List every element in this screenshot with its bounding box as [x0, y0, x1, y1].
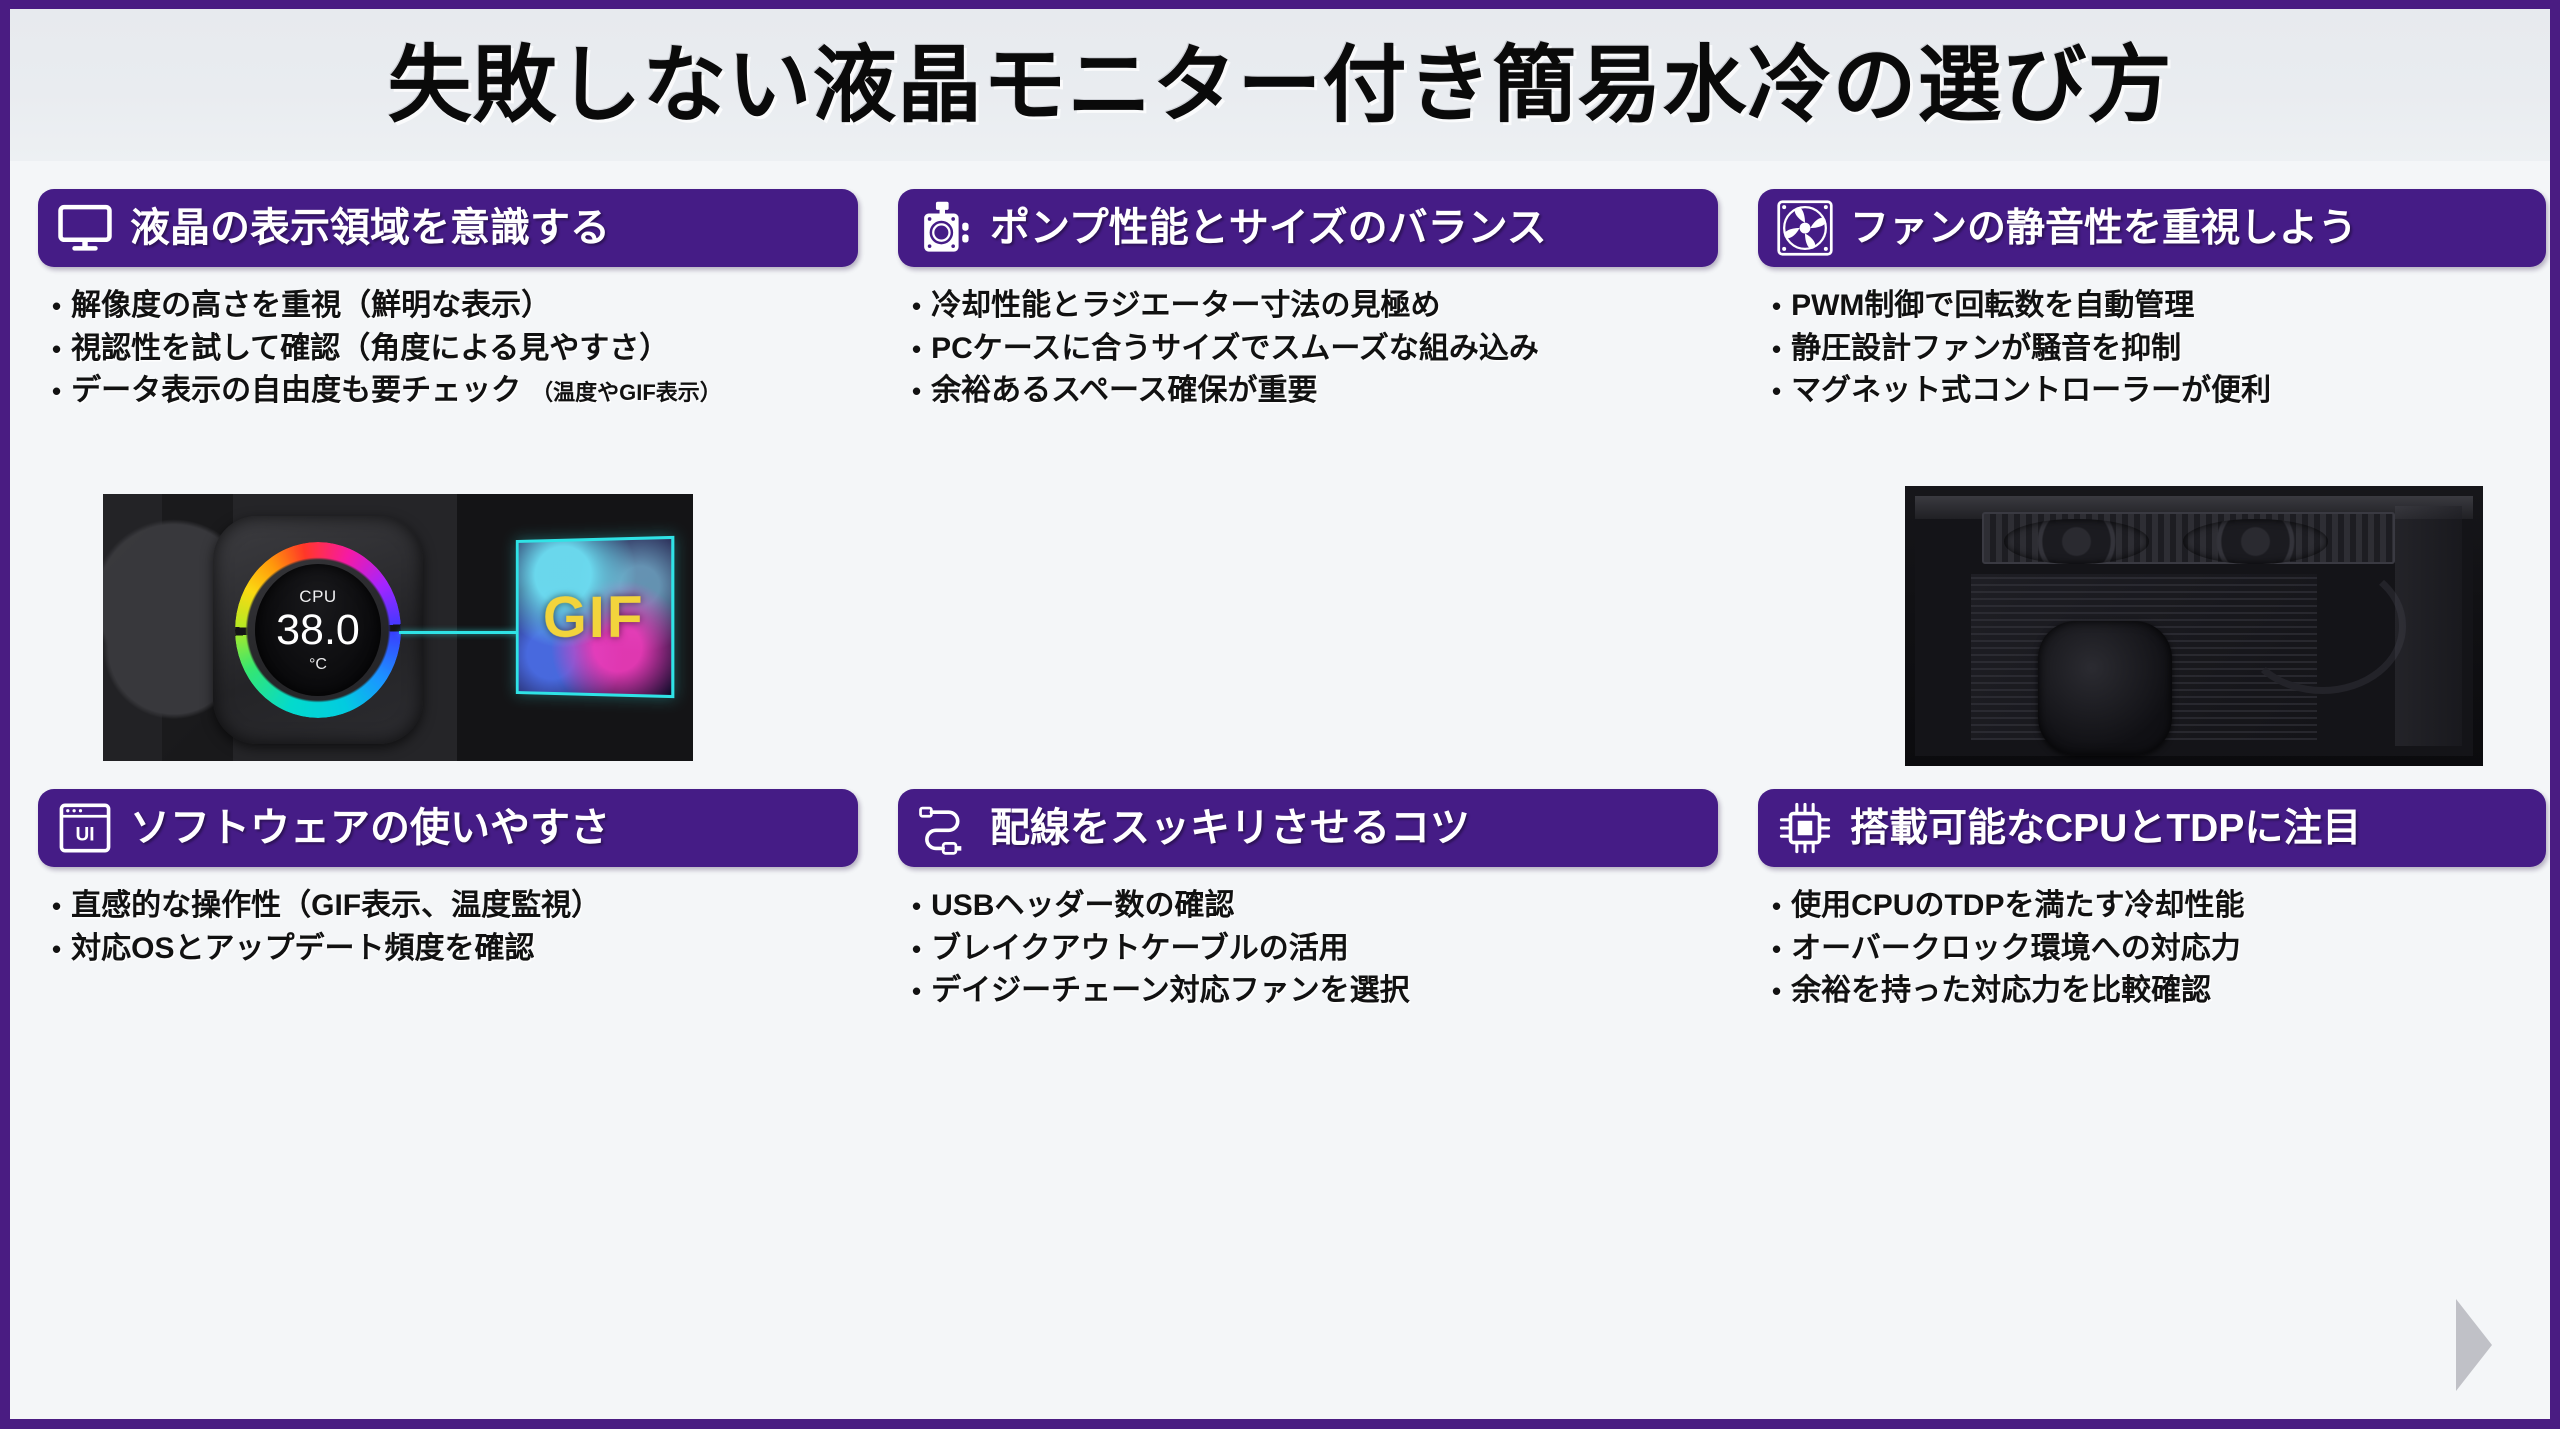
bullet-text: ブレイクアウトケーブルの活用	[931, 928, 1349, 971]
bullet-text: オーバークロック環境への対応力	[1791, 928, 2241, 971]
section-cable-management: 配線をスッキリさせるコツ • USBヘッダー数の確認 • ブレイクアウトケーブル…	[898, 789, 1718, 1013]
bullet-subtext: （温度やGIF表示）	[531, 377, 722, 408]
list-item: • 解像度の高さを重視（鮮明な表示）	[52, 285, 858, 328]
bullet-dot: •	[52, 378, 61, 404]
next-arrow-icon[interactable]	[2456, 1299, 2492, 1391]
usb-cable-icon	[916, 799, 974, 857]
list-item: • 使用CPUのTDPを満たす冷却性能	[1772, 885, 2546, 928]
list-item: • 余裕を持った対応力を比較確認	[1772, 970, 2546, 1013]
bullet-dot: •	[912, 293, 921, 319]
bullet-dot: •	[1772, 293, 1781, 319]
lcd-temp-unit: °C	[309, 656, 327, 674]
bullet-text: PCケースに合うサイズでスムーズな組み込み	[931, 328, 1539, 371]
bullet-text: 静圧設計ファンが騒音を抑制	[1791, 328, 2181, 371]
bullet-dot: •	[1772, 378, 1781, 404]
bullet-list-cable-management: • USBヘッダー数の確認 • ブレイクアウトケーブルの活用 • デイジーチェー…	[898, 885, 1718, 1013]
gif-label: GIF	[543, 583, 645, 651]
list-item: • 冷却性能とラジエーター寸法の見極め	[912, 285, 1718, 328]
list-item: • 視認性を試して確認（角度による見やすさ）	[52, 328, 858, 371]
bullet-list-fan-quietness: • PWM制御で回転数を自動管理 • 静圧設計ファンが騒音を抑制 • マグネット…	[1758, 285, 2546, 413]
bullet-dot: •	[52, 936, 61, 962]
list-item: • 直感的な操作性（GIF表示、温度監視）	[52, 885, 858, 928]
bullet-text: 解像度の高さを重視（鮮明な表示）	[71, 285, 551, 328]
bullet-text: 対応OSとアップデート頻度を確認	[71, 928, 534, 971]
lcd-cpu-label: CPU	[299, 587, 336, 607]
bullet-list-cpu-tdp-support: • 使用CPUのTDPを満たす冷却性能 • オーバークロック環境への対応力 • …	[1758, 885, 2546, 1013]
bullet-list-lcd-display-area: • 解像度の高さを重視（鮮明な表示） • 視認性を試して確認（角度による見やすさ…	[38, 285, 858, 413]
list-item: • PCケースに合うサイズでスムーズな組み込み	[912, 328, 1718, 371]
bullet-text: マグネット式コントローラーが便利	[1791, 370, 2271, 413]
bullet-list-pump-performance-size: • 冷却性能とラジエーター寸法の見極め • PCケースに合うサイズでスムーズな組…	[898, 285, 1718, 413]
cpu-chip-icon	[1776, 799, 1834, 857]
pump-icon	[916, 199, 974, 257]
bullet-text: デイジーチェーン対応ファンを選択	[931, 970, 1410, 1013]
bullet-text: PWM制御で回転数を自動管理	[1791, 285, 2194, 328]
section-heading: ポンプ性能とサイズのバランス	[990, 208, 1547, 248]
bullet-dot: •	[1772, 978, 1781, 1004]
section-pump-performance-size: ポンプ性能とサイズのバランス • 冷却性能とラジエーター寸法の見極め • PCケ…	[898, 189, 1718, 413]
list-item: • データ表示の自由度も要チェック （温度やGIF表示）	[52, 370, 858, 413]
bullet-dot: •	[912, 336, 921, 362]
bullet-text: 視認性を試して確認（角度による見やすさ）	[71, 328, 669, 371]
list-item: • 余裕あるスペース確保が重要	[912, 370, 1718, 413]
pump-head: CPU 38.0 °C	[213, 516, 423, 744]
section-header-cable-management: 配線をスッキリさせるコツ	[898, 789, 1718, 867]
list-item: • USBヘッダー数の確認	[912, 885, 1718, 928]
pump-block	[2038, 621, 2172, 755]
pc-case-interior-radiator-photo	[1900, 481, 2488, 771]
radiator-fan	[2004, 519, 2149, 563]
bullet-text: 使用CPUのTDPを満たす冷却性能	[1791, 885, 2244, 928]
coolant-tubing	[2239, 558, 2406, 693]
svg-text:UI: UI	[75, 825, 94, 846]
list-item: • 対応OSとアップデート頻度を確認	[52, 928, 858, 971]
section-heading: ソフトウェアの使いやすさ	[130, 808, 610, 848]
bullet-dot: •	[1772, 336, 1781, 362]
list-item: • 静圧設計ファンが騒音を抑制	[1772, 328, 2546, 371]
list-item: • オーバークロック環境への対応力	[1772, 928, 2546, 971]
lcd-temp-value: 38.0	[276, 609, 360, 652]
section-lcd-display-area: 液晶の表示領域を意識する • 解像度の高さを重視（鮮明な表示） • 視認性を試し…	[38, 189, 858, 413]
bullet-dot: •	[912, 936, 921, 962]
infographic-page: 失敗しない液晶モニター付き簡易水冷の選び方 液晶の表示領域を意識する	[0, 0, 2560, 1429]
section-heading: 配線をスッキリさせるコツ	[990, 808, 1470, 848]
list-item: • マグネット式コントローラーが便利	[1772, 370, 2546, 413]
title-banner: 失敗しない液晶モニター付き簡易水冷の選び方	[10, 9, 2550, 161]
bullet-text: USBヘッダー数の確認	[931, 885, 1234, 928]
radiator-fan	[2183, 519, 2328, 563]
section-heading: 搭載可能なCPUとTDPに注目	[1850, 809, 2361, 848]
section-cpu-tdp-support: 搭載可能なCPUとTDPに注目 • 使用CPUのTDPを満たす冷却性能 • オー…	[1758, 789, 2546, 1013]
section-header-cpu-tdp-support: 搭載可能なCPUとTDPに注目	[1758, 789, 2546, 867]
bullet-text: 余裕を持った対応力を比較確認	[1791, 970, 2211, 1013]
section-fan-quietness: ファンの静音性を重視しよう • PWM制御で回転数を自動管理 • 静圧設計ファン…	[1758, 189, 2546, 413]
section-header-fan-quietness: ファンの静音性を重視しよう	[1758, 189, 2546, 267]
page-title: 失敗しない液晶モニター付き簡易水冷の選び方	[387, 43, 2172, 127]
section-software-usability: UI ソフトウェアの使いやすさ • 直感的な操作性（GIF表示、温度監視） • …	[38, 789, 858, 970]
case-interior	[1915, 496, 2473, 756]
bullet-dot: •	[52, 336, 61, 362]
bullet-text: 冷却性能とラジエーター寸法の見極め	[931, 285, 1440, 328]
ui-window-icon: UI	[56, 799, 114, 857]
fan-icon	[1776, 199, 1834, 257]
bullet-text: データ表示の自由度も要チェック	[71, 370, 521, 413]
section-header-lcd-display-area: 液晶の表示領域を意識する	[38, 189, 858, 267]
section-grid: 液晶の表示領域を意識する • 解像度の高さを重視（鮮明な表示） • 視認性を試し…	[10, 161, 2550, 1419]
bullet-dot: •	[912, 893, 921, 919]
bullet-dot: •	[1772, 936, 1781, 962]
gif-preview-panel: GIF	[516, 536, 675, 698]
bullet-dot: •	[912, 378, 921, 404]
aio-pump-lcd-photo: CPU 38.0 °C GIF	[98, 489, 698, 766]
bullet-text: 直感的な操作性（GIF表示、温度監視）	[71, 885, 601, 928]
section-heading: ファンの静音性を重視しよう	[1850, 209, 2357, 248]
section-header-pump-performance-size: ポンプ性能とサイズのバランス	[898, 189, 1718, 267]
bullet-list-software-usability: • 直感的な操作性（GIF表示、温度監視） • 対応OSとアップデート頻度を確認	[38, 885, 858, 970]
bullet-dot: •	[1772, 893, 1781, 919]
section-heading: 液晶の表示領域を意識する	[130, 208, 610, 248]
pump-lcd-screen: CPU 38.0 °C	[255, 564, 381, 696]
bullet-dot: •	[912, 978, 921, 1004]
bullet-dot: •	[52, 293, 61, 319]
section-header-software-usability: UI ソフトウェアの使いやすさ	[38, 789, 858, 867]
monitor-icon	[56, 199, 114, 257]
infographic-canvas: 失敗しない液晶モニター付き簡易水冷の選び方 液晶の表示領域を意識する	[10, 9, 2550, 1419]
bullet-dot: •	[52, 893, 61, 919]
bullet-text: 余裕あるスペース確保が重要	[931, 370, 1317, 413]
side-panel-glass	[2395, 506, 2462, 745]
list-item: • PWM制御で回転数を自動管理	[1772, 285, 2546, 328]
list-item: • デイジーチェーン対応ファンを選択	[912, 970, 1718, 1013]
list-item: • ブレイクアウトケーブルの活用	[912, 928, 1718, 971]
